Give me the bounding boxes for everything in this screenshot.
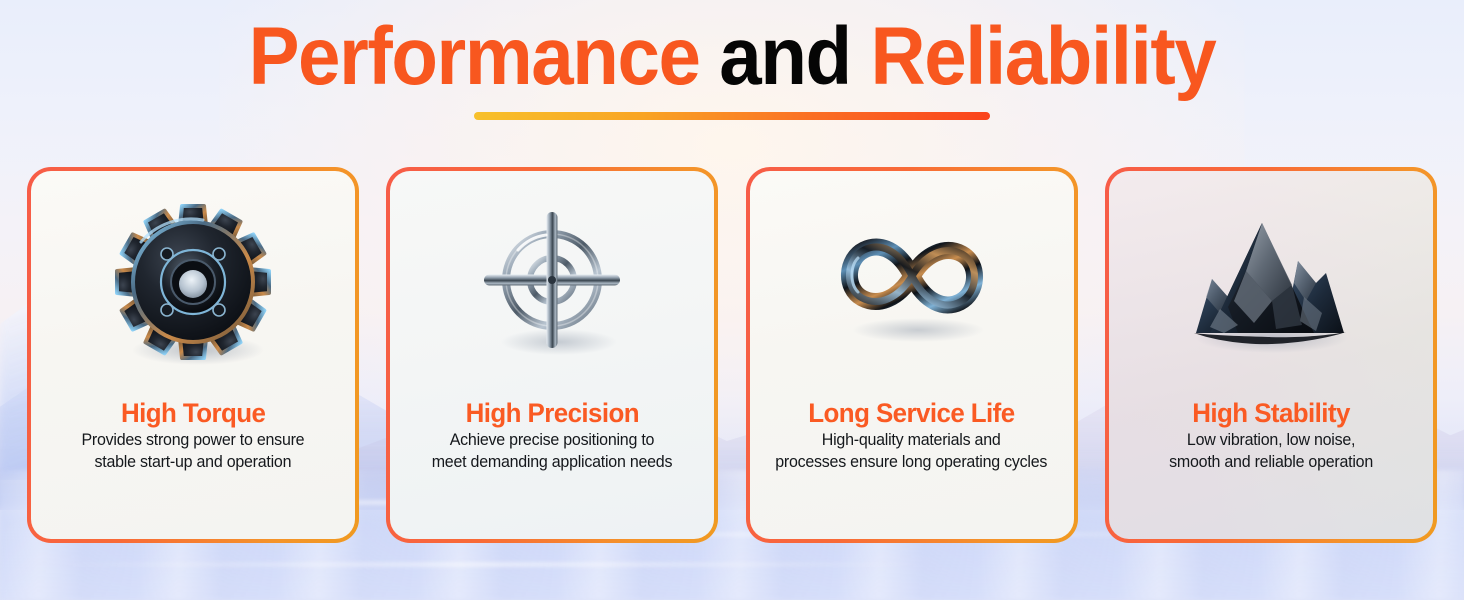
crosshair-target-icon	[467, 200, 637, 370]
feature-card-high-precision[interactable]: High Precision Achieve precise positioni…	[386, 167, 718, 543]
card-description: Achieve precise positioning tomeet deman…	[420, 430, 684, 474]
title-spacer	[699, 11, 719, 102]
icon-slot	[1109, 171, 1433, 399]
feature-card-high-torque[interactable]: High Torque Provides strong power to ens…	[27, 167, 359, 543]
feature-card-high-stability[interactable]: High Stability Low vibration, low noise,…	[1105, 167, 1437, 543]
card-description: Low vibration, low noise,smooth and reli…	[1157, 430, 1384, 474]
card-title: High Precision	[466, 399, 639, 427]
card-desc-line2: stable start-up and operation	[95, 453, 292, 471]
card-description: High-quality materials andprocesses ensu…	[764, 430, 1059, 474]
mountain-rock-icon	[1176, 205, 1366, 365]
icon-slot	[31, 171, 355, 399]
feature-banner: Performance and Reliability	[0, 0, 1464, 600]
card-desc-line1: Provides strong power to ensure	[82, 431, 305, 449]
card-desc-line1: Low vibration, low noise,	[1187, 431, 1355, 449]
infinity-icon	[822, 210, 1002, 360]
title-spacer	[851, 11, 871, 102]
card-desc-line2: smooth and reliable operation	[1169, 453, 1373, 471]
card-desc-line2: processes ensure long operating cycles	[776, 453, 1048, 471]
title-part-performance: Performance	[249, 11, 700, 102]
feature-card-row: High Torque Provides strong power to ens…	[27, 167, 1437, 543]
heading-block: Performance and Reliability	[0, 16, 1464, 120]
card-title: High Stability	[1192, 399, 1350, 427]
title-part-and: and	[719, 11, 850, 102]
card-desc-line1: High-quality materials and	[822, 431, 1001, 449]
card-desc-line2: meet demanding application needs	[432, 453, 672, 471]
card-description: Provides strong power to ensurestable st…	[70, 430, 316, 474]
card-desc-line1: Achieve precise positioning to	[450, 431, 654, 449]
title-part-reliability: Reliability	[871, 11, 1216, 102]
icon-slot	[750, 171, 1074, 399]
title-underline-rule	[474, 112, 990, 120]
gear-icon	[108, 200, 278, 370]
feature-card-long-service-life[interactable]: Long Service Life High-quality materials…	[746, 167, 1078, 543]
page-title: Performance and Reliability	[51, 16, 1413, 98]
icon-slot	[390, 171, 714, 399]
card-title: Long Service Life	[809, 399, 1015, 427]
card-title: High Torque	[121, 399, 265, 427]
background-streak	[40, 563, 940, 566]
